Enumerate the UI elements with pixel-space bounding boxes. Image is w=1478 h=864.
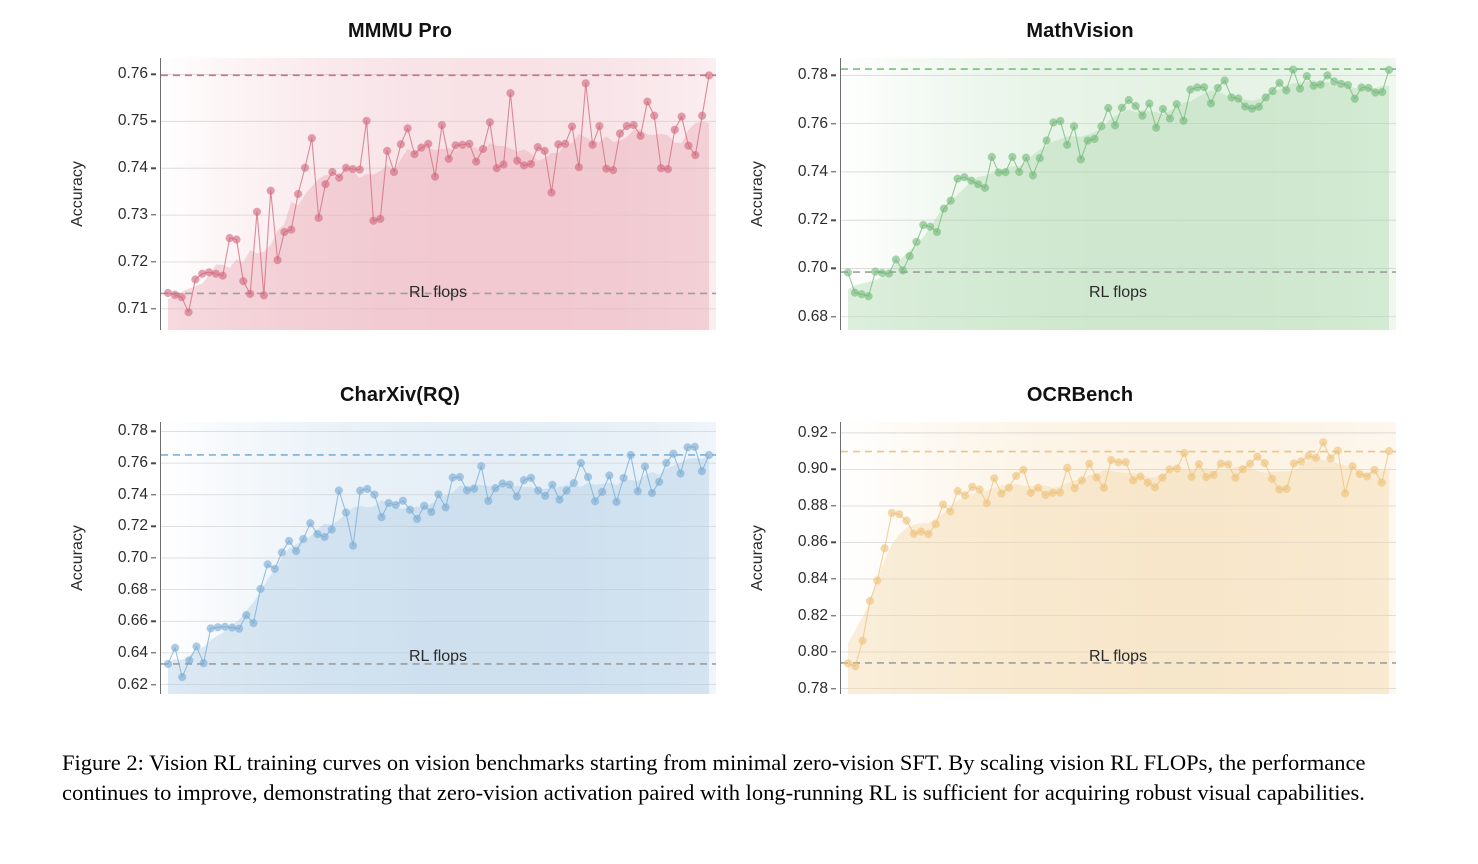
y-tick-label: 0.90 — [798, 460, 828, 478]
y-tick-label: 0.72 — [798, 211, 828, 229]
y-tick-label: 0.88 — [798, 497, 828, 515]
y-tick-label: 0.74 — [118, 486, 148, 504]
chart-title-mmmu: MMMU Pro — [60, 20, 740, 43]
y-tick-label: 0.72 — [118, 253, 148, 271]
y-tick-label: 0.68 — [118, 581, 148, 599]
y-tick-label: 0.72 — [118, 517, 148, 535]
figure-caption: Figure 2: Vision RL training curves on v… — [62, 748, 1414, 808]
y-tick-label: 0.78 — [798, 680, 828, 698]
y-tick-label: 0.62 — [118, 676, 148, 694]
chart-title-mathvision: MathVision — [740, 20, 1420, 43]
y-tick-label: 0.74 — [798, 163, 828, 181]
y-tick-label: 0.76 — [798, 115, 828, 133]
chart-panel-charxiv: CharXiv(RQ) Accuracy 0.620.640.660.680.7… — [60, 370, 740, 732]
y-tick-label: 0.76 — [118, 454, 148, 472]
figure-number: Figure 2: — [62, 750, 144, 775]
y-tick-label: 0.92 — [798, 424, 828, 442]
y-tick-label: 0.68 — [798, 308, 828, 326]
y-axis-label-ocrbench: Accuracy — [748, 422, 768, 694]
x-axis-label-mmmu: RL flops — [160, 284, 716, 302]
y-tick-label: 0.74 — [118, 159, 148, 177]
y-axis-label-charxiv: Accuracy — [68, 422, 88, 694]
y-axis-label-mmmu: Accuracy — [68, 58, 88, 330]
figure-caption-text: Vision RL training curves on vision benc… — [62, 750, 1365, 805]
y-tick-label: 0.78 — [798, 66, 828, 84]
x-axis-label-charxiv: RL flops — [160, 648, 716, 666]
chart-panel-ocrbench: OCRBench Accuracy 0.780.800.820.840.860.… — [740, 370, 1420, 732]
y-tick-label: 0.71 — [118, 300, 148, 318]
y-tick-labels-ocrbench: 0.780.800.820.840.860.880.900.92 — [768, 422, 838, 694]
y-tick-label: 0.86 — [798, 533, 828, 551]
y-tick-label: 0.66 — [118, 612, 148, 630]
chart-panel-mathvision: MathVision Accuracy 0.680.700.720.740.76… — [740, 6, 1420, 368]
figure-panel-grid: MMMU Pro Accuracy 0.710.720.730.740.750.… — [0, 0, 1478, 740]
y-tick-label: 0.84 — [798, 570, 828, 588]
y-tick-label: 0.78 — [118, 422, 148, 440]
y-tick-labels-mmmu: 0.710.720.730.740.750.76 — [88, 58, 158, 330]
y-tick-label: 0.70 — [798, 259, 828, 277]
x-axis-label-mathvision: RL flops — [840, 284, 1396, 302]
chart-title-ocrbench: OCRBench — [740, 384, 1420, 407]
y-tick-label: 0.75 — [118, 112, 148, 130]
y-tick-label: 0.80 — [798, 643, 828, 661]
y-tick-label: 0.82 — [798, 607, 828, 625]
y-tick-labels-mathvision: 0.680.700.720.740.760.78 — [768, 58, 838, 330]
y-tick-label: 0.76 — [118, 65, 148, 83]
y-tick-labels-charxiv: 0.620.640.660.680.700.720.740.760.78 — [88, 422, 158, 694]
y-axis-label-mathvision: Accuracy — [748, 58, 768, 330]
y-tick-label: 0.70 — [118, 549, 148, 567]
chart-panel-mmmu: MMMU Pro Accuracy 0.710.720.730.740.750.… — [60, 6, 740, 368]
y-tick-label: 0.73 — [118, 206, 148, 224]
x-axis-label-ocrbench: RL flops — [840, 648, 1396, 666]
chart-title-charxiv: CharXiv(RQ) — [60, 384, 740, 407]
y-tick-label: 0.64 — [118, 644, 148, 662]
